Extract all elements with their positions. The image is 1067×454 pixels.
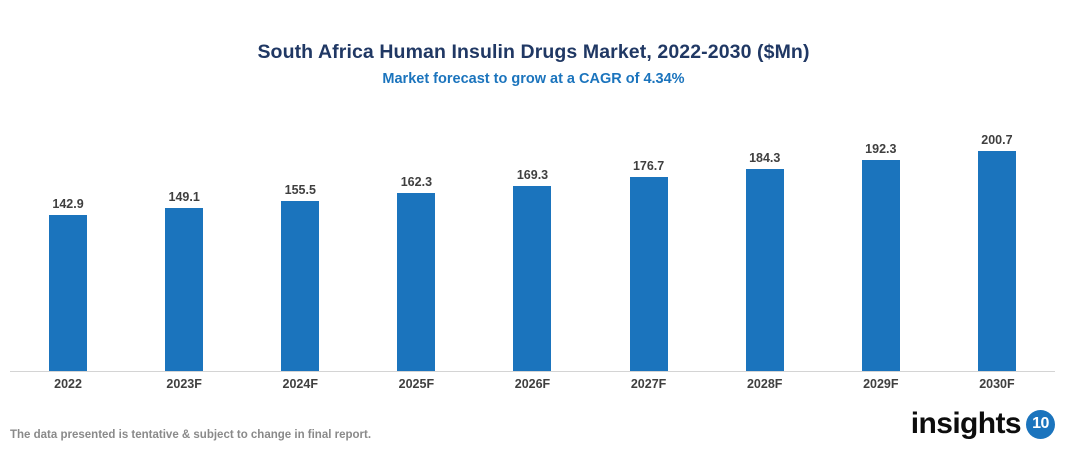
x-axis-tick-label: 2025F (358, 376, 474, 392)
bar-group[interactable]: 184.3 (707, 110, 823, 372)
logo-wordmark: insights (911, 409, 1021, 439)
bar-group[interactable]: 192.3 (823, 110, 939, 372)
bar-rect[interactable] (397, 193, 435, 372)
bar-group[interactable]: 200.7 (939, 110, 1055, 372)
bar-value-label: 155.5 (285, 183, 316, 198)
x-axis-tick-labels: 20222023F2024F2025F2026F2027F2028F2029F2… (10, 376, 1055, 392)
bar-rect[interactable] (978, 151, 1016, 372)
x-axis-tick-label: 2028F (707, 376, 823, 392)
x-axis-tick-label: 2023F (126, 376, 242, 392)
chart-subtitle: Market forecast to grow at a CAGR of 4.3… (0, 70, 1067, 88)
bar-value-label: 149.1 (169, 190, 200, 205)
bar-rect[interactable] (281, 201, 319, 372)
bar-group[interactable]: 169.3 (474, 110, 590, 372)
bar-rect[interactable] (862, 160, 900, 372)
bar-group[interactable]: 162.3 (358, 110, 474, 372)
bar-value-label: 142.9 (52, 197, 83, 212)
bar-value-label: 169.3 (517, 168, 548, 183)
x-axis-tick-label: 2030F (939, 376, 1055, 392)
bar-rect[interactable] (49, 215, 87, 372)
bar-series: 142.9149.1155.5162.3169.3176.7184.3192.3… (10, 110, 1055, 372)
bar-value-label: 192.3 (865, 142, 896, 157)
x-axis-tick-label: 2027F (591, 376, 707, 392)
bar-rect[interactable] (630, 177, 668, 372)
bar-rect[interactable] (746, 169, 784, 372)
x-axis-tick-label: 2029F (823, 376, 939, 392)
chart-card: South Africa Human Insulin Drugs Market,… (0, 0, 1067, 454)
x-axis-line (10, 371, 1055, 372)
bar-value-label: 200.7 (981, 133, 1012, 148)
insights10-logo: insights 10 (911, 405, 1055, 443)
bar-rect[interactable] (513, 186, 551, 372)
disclaimer-text: The data presented is tentative & subjec… (10, 428, 371, 443)
page-title: South Africa Human Insulin Drugs Market,… (0, 40, 1067, 64)
bar-value-label: 162.3 (401, 175, 432, 190)
x-axis-tick-label: 2026F (474, 376, 590, 392)
plot-area: 142.9149.1155.5162.3169.3176.7184.3192.3… (10, 110, 1055, 372)
bar-group[interactable]: 176.7 (591, 110, 707, 372)
bar-group[interactable]: 155.5 (242, 110, 358, 372)
bar-group[interactable]: 142.9 (10, 110, 126, 372)
bar-group[interactable]: 149.1 (126, 110, 242, 372)
logo-badge-icon: 10 (1026, 410, 1055, 439)
x-axis-tick-label: 2022 (10, 376, 126, 392)
title-block: South Africa Human Insulin Drugs Market,… (0, 40, 1067, 88)
bar-value-label: 176.7 (633, 159, 664, 174)
x-axis-tick-label: 2024F (242, 376, 358, 392)
bar-rect[interactable] (165, 208, 203, 372)
bar-value-label: 184.3 (749, 151, 780, 166)
